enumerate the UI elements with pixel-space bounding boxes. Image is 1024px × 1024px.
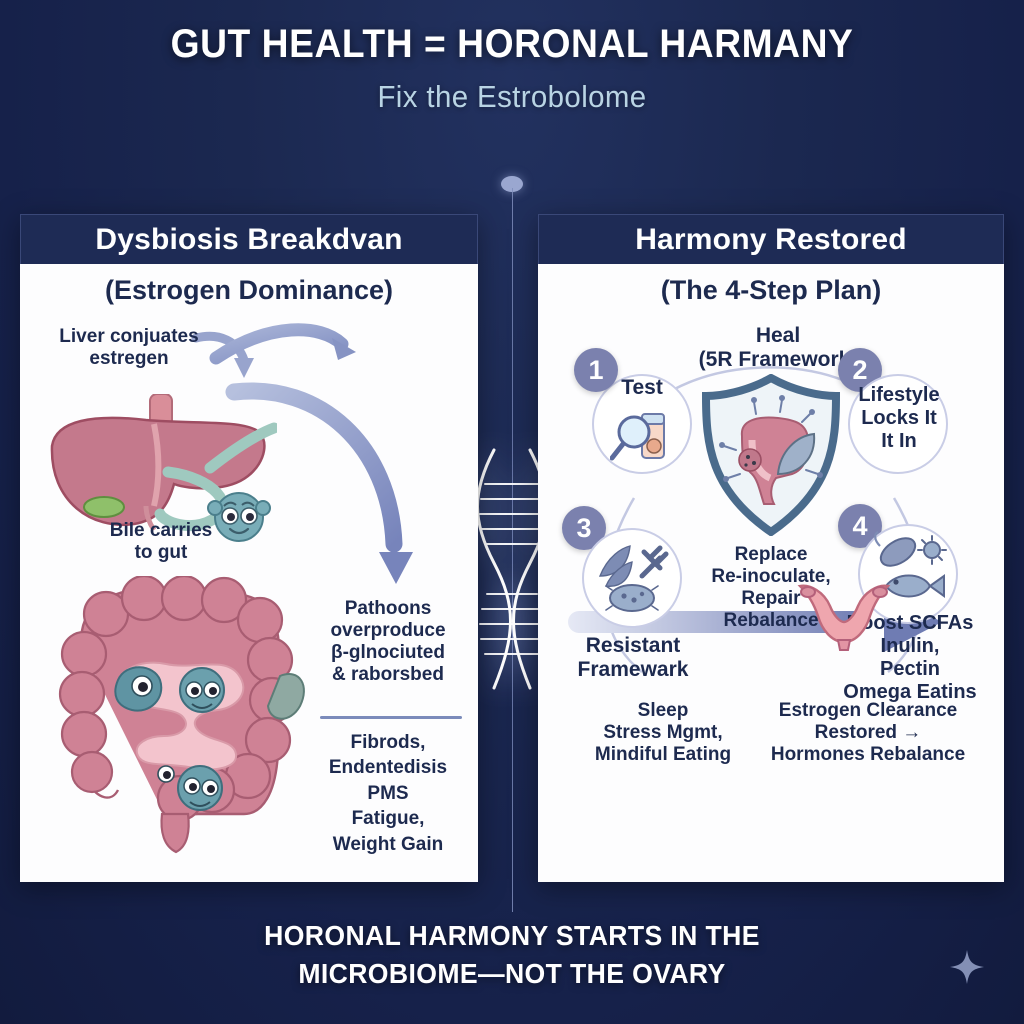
- page-subtitle: Fix the Estrobolome: [26, 79, 999, 115]
- bile-caption: Bile carries to gut: [56, 520, 266, 564]
- pathogen-caption: Pathoons overproduce β-glnociuted & rabo…: [312, 598, 464, 686]
- right-panel: Harmony Restored (The 4-Step Plan): [538, 214, 1004, 882]
- gut-shield-icon: [696, 374, 846, 536]
- left-panel-band: Dysbiosis Breakdvan: [20, 214, 478, 264]
- liver-caption: Liver conjuates estregen: [34, 326, 224, 370]
- right-panel-subtitle-row: (The 4-Step Plan): [538, 264, 1004, 316]
- footer-line-1: HORONAL HARMONY STARTS IN THE: [26, 917, 999, 956]
- left-panel-body: Liver conjuates estregen: [20, 316, 478, 882]
- right-panel-subtitle: (The 4-Step Plan): [661, 275, 882, 306]
- gut-microbe-icon: [115, 667, 161, 710]
- left-panel: Dysbiosis Breakdvan (Estrogen Dominance): [20, 214, 478, 882]
- left-panel-title: Dysbiosis Breakdvan: [95, 223, 402, 257]
- intestine-illustration: [48, 576, 316, 856]
- right-panel-title: Harmony Restored: [635, 223, 907, 257]
- symptom-divider-rule: [320, 716, 462, 719]
- gut-microbe-icon: [178, 766, 222, 810]
- step-3-label: Resistant Framewark: [570, 634, 696, 682]
- step-1-label: Test: [582, 376, 702, 400]
- page-title: GUT HEALTH = HORONAL HARMANY: [36, 22, 988, 67]
- footer-line-2: MICROBIOME—NOT THE OVARY: [26, 955, 999, 994]
- right-panel-band: Harmony Restored: [538, 214, 1004, 264]
- lifestyle-caption: Sleep Stress Mgmt, Mindiful Eating: [570, 700, 756, 766]
- infographic-canvas: GUT HEALTH = HORONAL HARMANY Fix the Est…: [0, 0, 1024, 1024]
- left-panel-subtitle: (Estrogen Dominance): [105, 275, 393, 306]
- left-panel-subtitle-row: (Estrogen Dominance): [20, 264, 478, 316]
- magnifier-sample-icon: [610, 408, 674, 466]
- uterus-icon: [794, 578, 894, 652]
- gut-microbe-icon: [180, 668, 224, 712]
- step-2-label: Lifestyle Locks It It In: [838, 384, 960, 453]
- herb-wrench-microbe-icon: [596, 542, 672, 614]
- right-panel-body: 1 Test Heal (5R Framework): [538, 316, 1004, 882]
- footer: HORONAL HARMONY STARTS IN THE MICROBIOME…: [0, 917, 1024, 994]
- symptom-list: Fibrods, Endentedisis PMS Fatigue, Weigh…: [310, 730, 466, 857]
- header: GUT HEALTH = HORONAL HARMANY Fix the Est…: [0, 22, 1024, 115]
- outcome-caption: Estrogen Clearance Restored → Hormones R…: [746, 700, 990, 766]
- sparkle-icon: [950, 950, 984, 984]
